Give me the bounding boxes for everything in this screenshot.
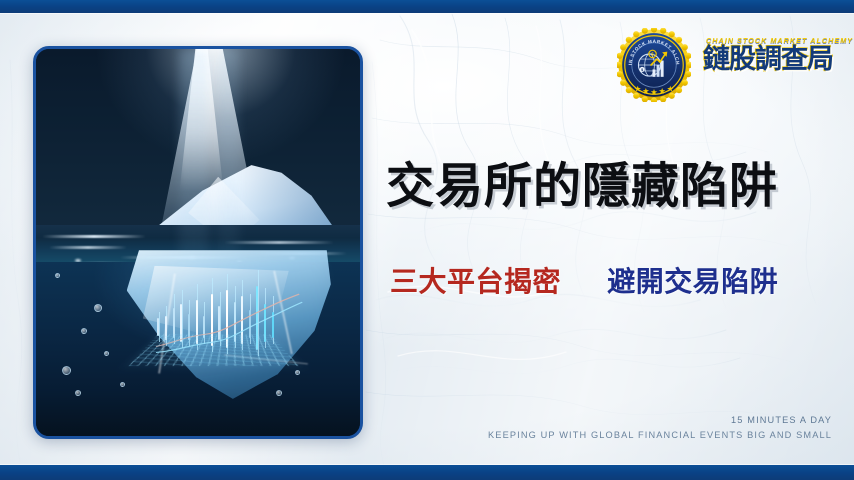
bubble	[81, 328, 87, 334]
chart-grid-mesh	[129, 334, 300, 366]
tagline-line-1: 15 MINUTES A DAY	[488, 413, 832, 428]
brand-wordmark: CHAIN STOCK MARKET ALCHEMY 鏈股調查局	[703, 36, 831, 74]
emblem-badge-icon: CHAIN STOCK MARKET ALCHEMY $ $	[617, 28, 691, 102]
iceberg-scene	[36, 49, 360, 436]
bubble	[75, 390, 81, 396]
subtitle-row: 三大平台揭密 避開交易陷阱	[390, 260, 820, 300]
svg-text:$: $	[641, 68, 643, 72]
bottom-brand-bar	[0, 465, 854, 480]
poster-canvas: CHAIN STOCK MARKET ALCHEMY $ $	[0, 0, 854, 480]
page-title: 交易所的隱藏陷阱	[386, 146, 826, 216]
iceberg-image-panel	[33, 46, 363, 439]
wordmark-chinese: 鏈股調查局	[703, 46, 831, 74]
wave-crest	[42, 235, 146, 238]
wave-crest	[49, 246, 127, 249]
subtitle-right-text: 避開交易陷阱	[607, 265, 778, 298]
bubble	[276, 390, 282, 396]
top-bar-hairline	[0, 13, 854, 14]
top-brand-bar	[0, 0, 854, 13]
tagline-block: 15 MINUTES A DAY KEEPING UP WITH GLOBAL …	[488, 413, 832, 443]
brand-logo: CHAIN STOCK MARKET ALCHEMY $ $	[617, 28, 832, 102]
tagline-line-2: KEEPING UP WITH GLOBAL FINANCIAL EVENTS …	[488, 428, 832, 443]
wave-crest	[224, 241, 334, 244]
bubble	[104, 351, 109, 356]
subtitle-left-text: 三大平台揭密	[390, 265, 561, 298]
